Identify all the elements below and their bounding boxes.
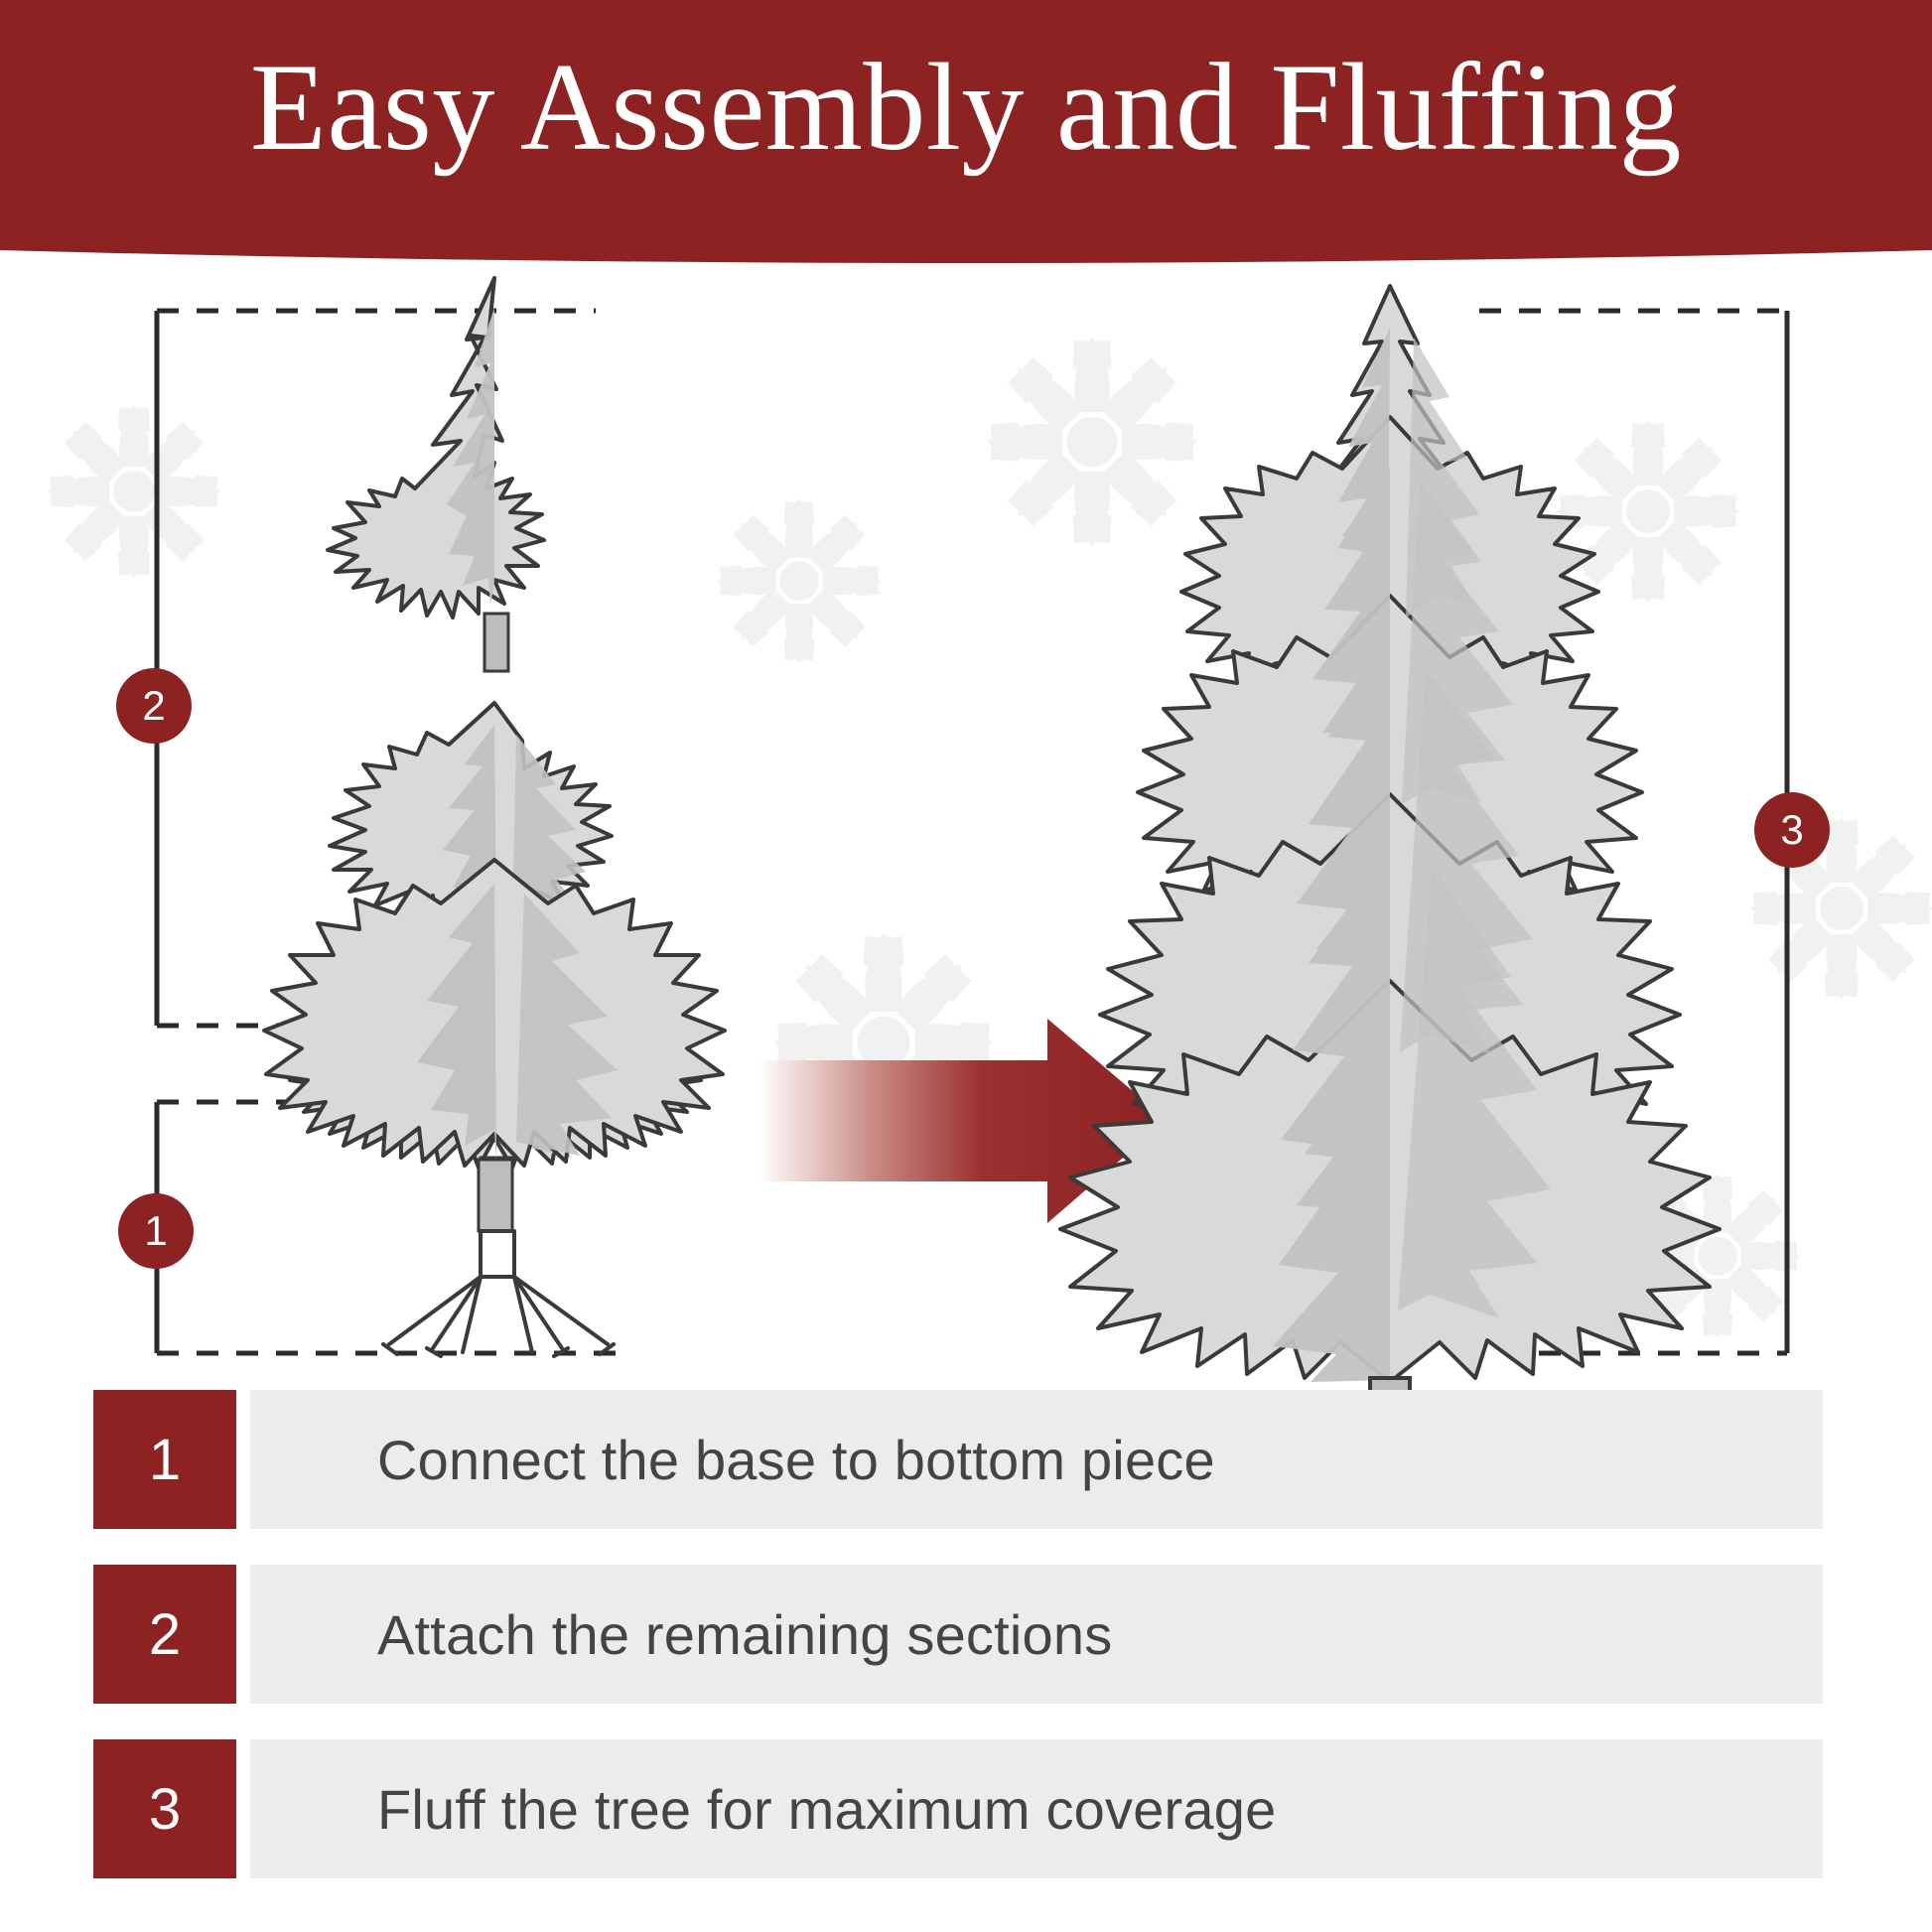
step-number-2-label: 2: [149, 1601, 181, 1668]
step-row-2: 2 Attach the remaining sections: [0, 1565, 1932, 1704]
tree-section-top: [328, 278, 544, 671]
infographic-page: Easy Assembly and Fluffing: [0, 0, 1932, 1932]
tree-pole-top: [484, 614, 508, 671]
tree-trunk-right: [1370, 1378, 1410, 1390]
step-number-1-label: 1: [149, 1427, 181, 1493]
diagram-canvas: [0, 268, 1932, 1390]
step-number-3-label: 3: [149, 1776, 181, 1843]
header-banner: Easy Assembly and Fluffing: [0, 0, 1932, 268]
badge-1: 1: [118, 1193, 194, 1269]
exploded-tree-sections: [264, 278, 725, 1356]
badge-1-label: 1: [144, 1210, 167, 1252]
step-text-2: Attach the remaining sections: [250, 1565, 1823, 1704]
badge-3-label: 3: [1780, 809, 1803, 851]
assembly-diagram: 2 1 3: [0, 268, 1932, 1390]
step-number-3: 3: [93, 1739, 236, 1878]
step-text-3: Fluff the tree for maximum coverage: [250, 1739, 1823, 1878]
steps-list: 1 Connect the base to bottom piece 2 Att…: [0, 1390, 1932, 1914]
badge-3: 3: [1754, 792, 1830, 868]
step-number-1: 1: [93, 1390, 236, 1529]
step-number-2: 2: [93, 1565, 236, 1704]
tree-section-bottom: [264, 860, 725, 1231]
page-title: Easy Assembly and Fluffing: [0, 40, 1932, 178]
tree-pole-bottom: [479, 1160, 512, 1231]
step-row-3: 3 Fluff the tree for maximum coverage: [0, 1739, 1932, 1878]
tree-stand-left: [383, 1231, 614, 1356]
badge-2-label: 2: [142, 685, 165, 727]
step-text-1: Connect the base to bottom piece: [250, 1390, 1823, 1529]
badge-2: 2: [116, 668, 192, 744]
step-row-1: 1 Connect the base to bottom piece: [0, 1390, 1932, 1529]
